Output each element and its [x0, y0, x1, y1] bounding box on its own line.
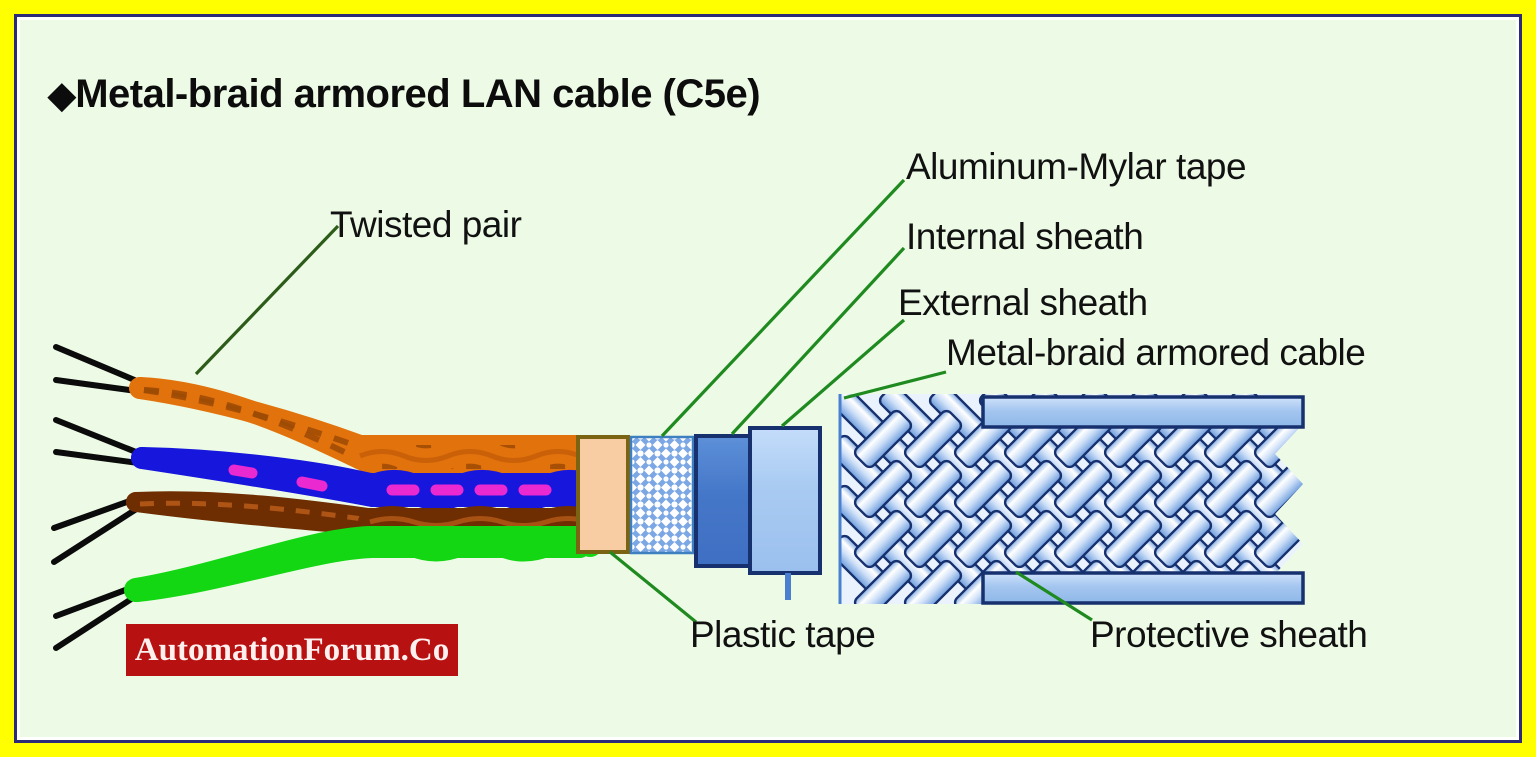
twisted-pair-green: [136, 538, 590, 592]
label-metal-braid-armored-cable: Metal-braid armored cable: [946, 332, 1365, 374]
watermark-automationforum: AutomationForum.Co: [126, 624, 458, 676]
label-aluminum-mylar-tape: Aluminum-Mylar tape: [906, 146, 1246, 188]
layer-external-sheath: [750, 428, 820, 573]
label-twisted-pair: Twisted pair: [330, 204, 521, 246]
label-protective-sheath: Protective sheath: [1090, 614, 1367, 656]
diagram-canvas: ◆Metal-braid armored LAN cable (C5e): [20, 20, 1516, 737]
figure-page: ◆Metal-braid armored LAN cable (C5e): [0, 0, 1536, 757]
watermark-text: AutomationForum.Co: [135, 632, 449, 669]
layer-aluminum-mylar-tape: [631, 437, 693, 553]
leader-twisted-pair: [196, 226, 338, 374]
leader-plastic-tape: [610, 552, 696, 622]
label-external-sheath: External sheath: [898, 282, 1148, 324]
label-internal-sheath: Internal sheath: [906, 216, 1143, 258]
label-plastic-tape: Plastic tape: [690, 614, 875, 656]
protective-sheath-bottom: [983, 573, 1303, 603]
protective-sheath-top: [983, 397, 1303, 427]
layer-plastic-tape: [578, 437, 628, 552]
